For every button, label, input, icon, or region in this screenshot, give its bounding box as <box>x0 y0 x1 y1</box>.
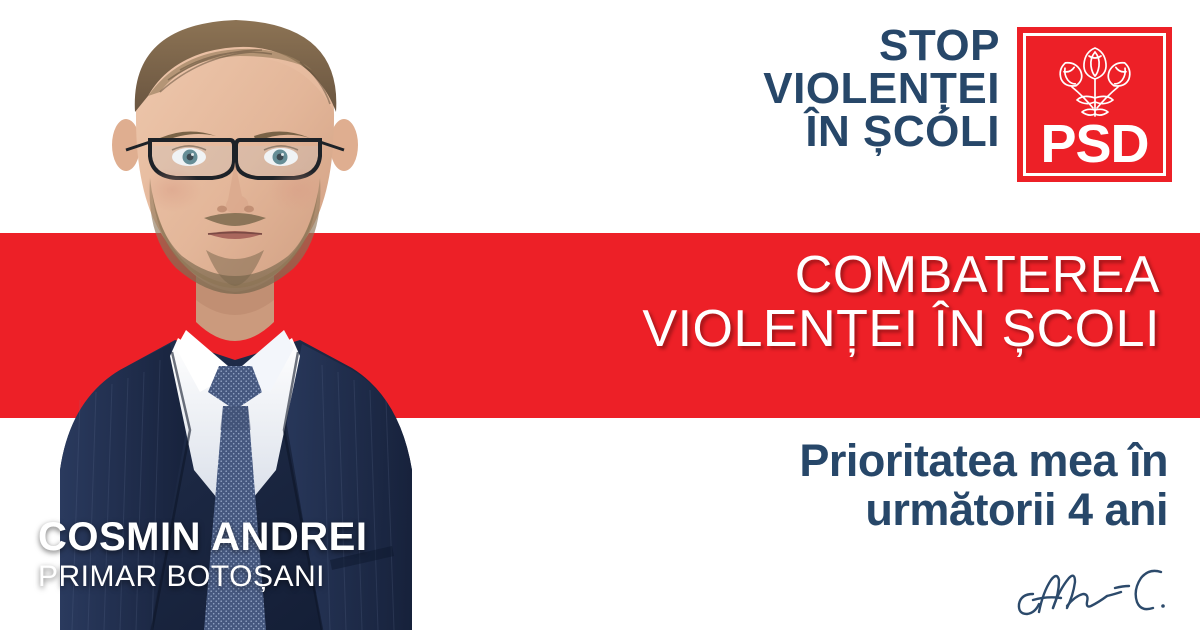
candidate-name: COSMIN ANDREI <box>38 516 367 558</box>
slogan-line-3: ÎN ȘCÓLI <box>420 110 1000 153</box>
candidate-role: PRIMAR BOTOȘANI <box>38 560 367 593</box>
slogan-line-2: VIOLENȚEI <box>420 67 1000 110</box>
banner-subheadline: Prioritatea mea în următorii 4 ani <box>799 437 1168 534</box>
banner-headline: COMBATEREA VIOLENȚEI ÎN ȘCOLI <box>642 248 1160 356</box>
signature-mark <box>1003 550 1178 624</box>
psd-wordmark: PSD <box>1026 117 1163 171</box>
subheadline-line-1: Prioritatea mea în <box>799 437 1168 486</box>
psd-logo-frame: PSD <box>1023 33 1166 176</box>
stop-slogan: STOP VIOLENȚEI ÎN ȘCÓLI <box>420 24 1000 153</box>
headline-line-2: VIOLENȚEI ÎN ȘCOLI <box>642 302 1160 356</box>
subheadline-line-2: următorii 4 ani <box>799 486 1168 535</box>
candidate-identity: COSMIN ANDREI PRIMAR BOTOȘANI <box>38 516 367 593</box>
slogan-line-1: STOP <box>420 24 1000 67</box>
psd-logo: PSD <box>1017 27 1172 182</box>
headline-line-1: COMBATEREA <box>642 248 1160 302</box>
campaign-banner: STOP VIOLENȚEI ÎN ȘCÓLI <box>0 0 1200 630</box>
three-roses-icon <box>1049 42 1141 122</box>
